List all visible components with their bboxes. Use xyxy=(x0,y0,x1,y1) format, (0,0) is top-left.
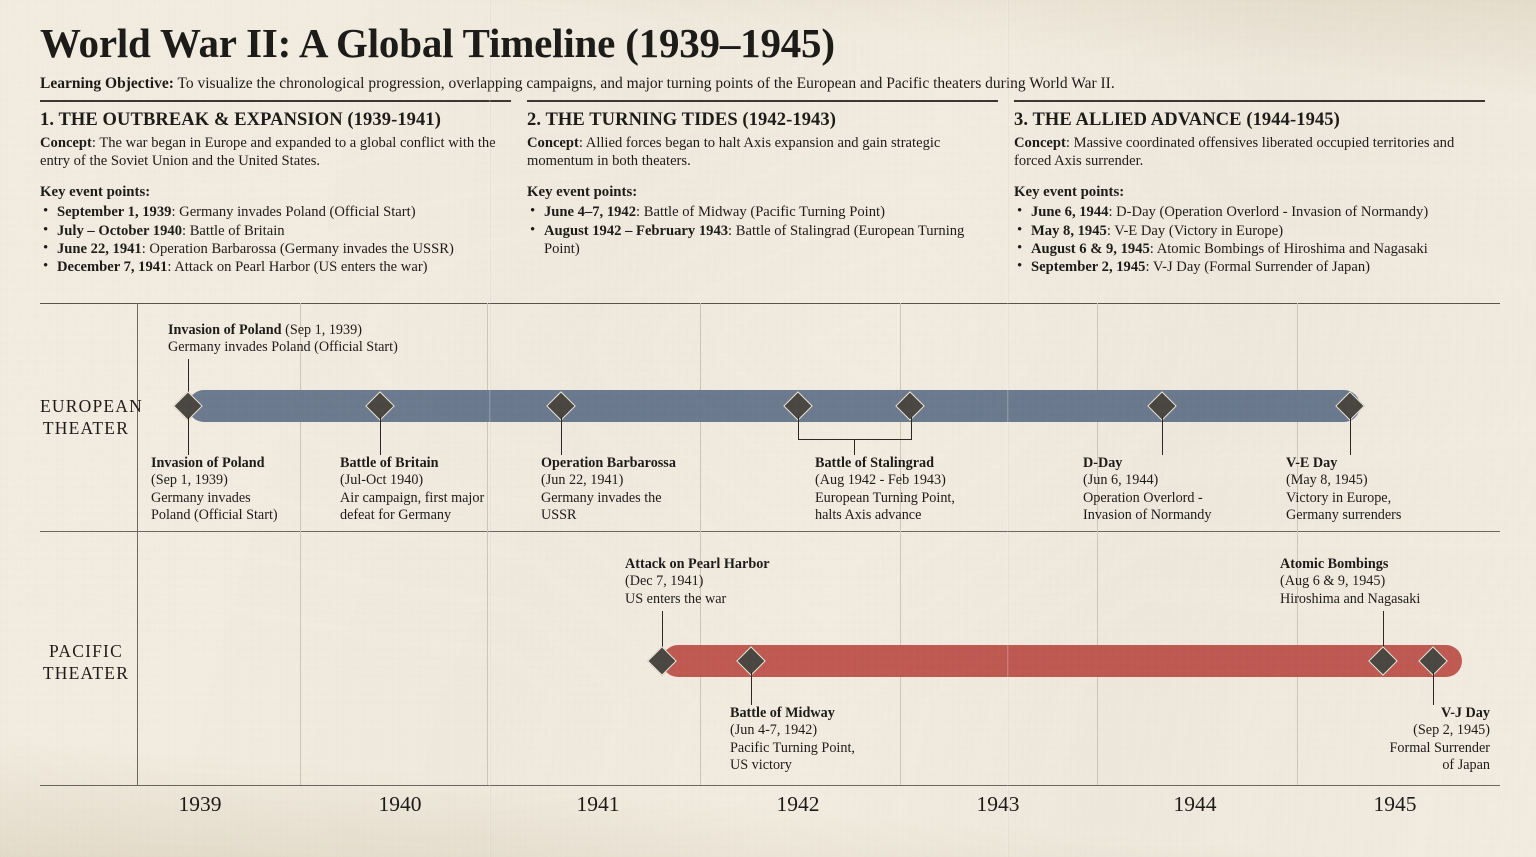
concept-label: Concept xyxy=(1014,135,1066,151)
key-events-list-1: September 1, 1939: Germany invades Polan… xyxy=(40,203,505,276)
section-heading-1: 1. THE OUTBREAK & EXPANSION (1939-1941) xyxy=(40,109,505,131)
leader-line-battle-of-midway xyxy=(751,672,752,705)
year-axis: 1939 1940 1941 1942 1943 1944 1945 xyxy=(40,790,1500,830)
event-detail-2: defeat for Germany xyxy=(340,507,512,524)
event-detail-2: Germany surrenders xyxy=(1286,507,1456,524)
event-name: D-Day xyxy=(1083,455,1263,472)
concept-text: : The war began in Europe and expanded t… xyxy=(40,135,496,169)
year-tick-1942: 1942 xyxy=(777,790,820,818)
bullet-text: : Battle of Britain xyxy=(182,223,285,239)
event-date: (Sep 2, 1945) xyxy=(1290,722,1490,739)
year-tick-1945: 1945 xyxy=(1374,790,1417,818)
event-detail-1: Hiroshima and Nagasaki xyxy=(1280,591,1536,608)
event-name: V-J Day xyxy=(1290,705,1490,722)
year-tick-1939: 1939 xyxy=(179,790,222,818)
event-name: Invasion of Poland xyxy=(168,322,282,338)
list-item: September 2, 1945: V-J Day (Formal Surre… xyxy=(1014,258,1479,276)
event-detail-2: US victory xyxy=(730,757,910,774)
event-date: (Jun 4-7, 1942) xyxy=(730,722,910,739)
bullet-date: August 1942 – February 1943 xyxy=(544,223,728,239)
event-name: Battle of Stalingrad xyxy=(815,455,995,472)
event-date: (Sep 1, 1939) xyxy=(151,472,323,489)
bracket-stem-battle-of-stalingrad xyxy=(854,439,855,455)
event-name: Invasion of Poland xyxy=(151,455,323,472)
list-item: June 6, 1944: D-Day (Operation Overlord … xyxy=(1014,203,1479,221)
event-callout-atomic-bombings: Atomic Bombings (Aug 6 & 9, 1945) Hirosh… xyxy=(1280,556,1536,608)
event-detail-2: Invasion of Normandy xyxy=(1083,507,1263,524)
event-date: (Aug 1942 - Feb 1943) xyxy=(815,472,995,489)
year-tick-1940: 1940 xyxy=(379,790,422,818)
year-tick-1941: 1941 xyxy=(577,790,620,818)
event-date: (Jul-Oct 1940) xyxy=(340,472,512,489)
list-item: June 4–7, 1942: Battle of Midway (Pacifi… xyxy=(527,203,992,221)
gridline-1941 xyxy=(700,303,701,785)
event-label-battle-of-stalingrad: Battle of Stalingrad (Aug 1942 - Feb 194… xyxy=(815,455,995,525)
event-label-operation-barbarossa: Operation Barbarossa (Jun 22, 1941) Germ… xyxy=(541,455,706,525)
gridline-1943 xyxy=(1097,303,1098,785)
row-label-pacific-theater: PACIFIC THEATER xyxy=(40,640,132,684)
bullet-text: : V-J Day (Formal Surrender of Japan) xyxy=(1145,259,1370,275)
bullet-date: June 22, 1941 xyxy=(57,241,142,257)
section-columns: 1. THE OUTBREAK & EXPANSION (1939-1941) … xyxy=(40,100,1500,276)
event-name: Attack on Pearl Harbor xyxy=(625,556,885,573)
leader-line-battle-of-britain xyxy=(380,417,381,455)
concept-text: : Massive coordinated offensives liberat… xyxy=(1014,135,1454,169)
row-label-line1: PACIFIC xyxy=(40,640,132,662)
event-detail-2: of Japan xyxy=(1290,757,1490,774)
bullet-text: : Attack on Pearl Harbor (US enters the … xyxy=(167,259,427,275)
event-label-d-day: D-Day (Jun 6, 1944) Operation Overlord -… xyxy=(1083,455,1263,525)
bullet-date: September 1, 1939 xyxy=(57,204,171,220)
event-detail-2: USSR xyxy=(541,507,706,524)
chart-middle-divider xyxy=(40,531,1500,532)
key-events-label-1: Key event points: xyxy=(40,183,505,201)
key-events-label-2: Key event points: xyxy=(527,183,992,201)
key-events-list-3: June 6, 1944: D-Day (Operation Overlord … xyxy=(1014,203,1479,276)
chart-top-rule xyxy=(40,303,1500,304)
list-item: August 1942 – February 1943: Battle of S… xyxy=(527,222,992,258)
leader-line-operation-barbarossa xyxy=(561,417,562,455)
page-title: World War II: A Global Timeline (1939–19… xyxy=(40,18,1496,68)
chart-bottom-rule xyxy=(40,785,1500,786)
event-date: (Jun 22, 1941) xyxy=(541,472,706,489)
list-item: December 7, 1941: Attack on Pearl Harbor… xyxy=(40,258,505,276)
event-name: Battle of Midway xyxy=(730,705,910,722)
bullet-text: : Atomic Bombings of Hiroshima and Nagas… xyxy=(1150,241,1428,257)
event-name: V-E Day xyxy=(1286,455,1456,472)
gridline-1940 xyxy=(487,303,488,785)
event-label-battle-of-midway: Battle of Midway (Jun 4-7, 1942) Pacific… xyxy=(730,705,910,775)
event-callout-invasion-of-poland-above: Invasion of Poland (Sep 1, 1939) Germany… xyxy=(168,322,498,357)
row-label-european-theater: EUROPEAN THEATER xyxy=(40,395,132,439)
bullet-text: : V-E Day (Victory in Europe) xyxy=(1107,223,1283,239)
event-date: (May 8, 1945) xyxy=(1286,472,1456,489)
bullet-date: June 6, 1944 xyxy=(1031,204,1108,220)
event-detail-1: US enters the war xyxy=(625,591,885,608)
bullet-text: : Battle of Midway (Pacific Turning Poin… xyxy=(636,204,885,220)
event-callout-attack-on-pearl-harbor: Attack on Pearl Harbor (Dec 7, 1941) US … xyxy=(625,556,885,608)
leader-line-v-e-day xyxy=(1350,417,1351,455)
event-detail-1: European Turning Point, xyxy=(815,490,995,507)
bullet-date: September 2, 1945 xyxy=(1031,259,1145,275)
row-label-line2: THEATER xyxy=(40,662,132,684)
learning-objective-label: Learning Objective: xyxy=(40,75,174,92)
event-detail-1: Formal Surrender xyxy=(1290,740,1490,757)
concept-label: Concept xyxy=(527,135,579,151)
page-header: World War II: A Global Timeline (1939–19… xyxy=(40,18,1496,94)
event-detail-2: halts Axis advance xyxy=(815,507,995,524)
list-item: August 6 & 9, 1945: Atomic Bombings of H… xyxy=(1014,240,1479,258)
pacific-theater-bar xyxy=(662,645,1462,677)
list-item: June 22, 1941: Operation Barbarossa (Ger… xyxy=(40,240,505,258)
bullet-date: May 8, 1945 xyxy=(1031,223,1107,239)
year-tick-1943: 1943 xyxy=(977,790,1020,818)
section-column-2: 2. THE TURNING TIDES (1942-1943) Concept… xyxy=(527,100,1014,276)
event-date: (Sep 1, 1939) xyxy=(282,322,362,338)
leader-line-d-day xyxy=(1162,417,1163,455)
event-date: (Dec 7, 1941) xyxy=(625,573,885,590)
column-rule xyxy=(40,100,511,102)
gridline-1939 xyxy=(300,303,301,785)
list-item: May 8, 1945: V-E Day (Victory in Europe) xyxy=(1014,222,1479,240)
key-events-label-3: Key event points: xyxy=(1014,183,1479,201)
row-label-line1: EUROPEAN xyxy=(40,395,132,417)
event-detail: Germany invades Poland (Official Start) xyxy=(168,339,498,356)
event-detail-1: Pacific Turning Point, xyxy=(730,740,910,757)
concept-text: : Allied forces began to halt Axis expan… xyxy=(527,135,940,169)
year-tick-1944: 1944 xyxy=(1174,790,1217,818)
column-rule xyxy=(1014,100,1485,102)
event-date: (Aug 6 & 9, 1945) xyxy=(1280,573,1536,590)
event-detail-1: Germany invades xyxy=(151,490,323,507)
concept-label: Concept xyxy=(40,135,92,151)
event-name: Atomic Bombings xyxy=(1280,556,1536,573)
section-concept-3: Concept: Massive coordinated offensives … xyxy=(1014,134,1479,170)
bullet-date: December 7, 1941 xyxy=(57,259,167,275)
section-column-1: 1. THE OUTBREAK & EXPANSION (1939-1941) … xyxy=(40,100,527,276)
event-detail-1: Germany invades the xyxy=(541,490,706,507)
key-events-list-2: June 4–7, 1942: Battle of Midway (Pacifi… xyxy=(527,203,992,258)
bullet-text: : Germany invades Poland (Official Start… xyxy=(171,204,415,220)
column-rule xyxy=(527,100,998,102)
bullet-text: : Operation Barbarossa (Germany invades … xyxy=(142,241,454,257)
section-column-3: 3. THE ALLIED ADVANCE (1944-1945) Concep… xyxy=(1014,100,1501,276)
event-detail-1: Victory in Europe, xyxy=(1286,490,1456,507)
leader-line-v-j-day xyxy=(1433,672,1434,705)
learning-objective-text: To visualize the chronological progressi… xyxy=(174,75,1115,92)
list-item: July – October 1940: Battle of Britain xyxy=(40,222,505,240)
event-label-v-e-day: V-E Day (May 8, 1945) Victory in Europe,… xyxy=(1286,455,1456,525)
section-heading-3: 3. THE ALLIED ADVANCE (1944-1945) xyxy=(1014,109,1479,131)
list-item: September 1, 1939: Germany invades Polan… xyxy=(40,203,505,221)
bullet-date: August 6 & 9, 1945 xyxy=(1031,241,1150,257)
event-label-invasion-of-poland: Invasion of Poland (Sep 1, 1939) Germany… xyxy=(151,455,323,525)
bracket-battle-of-stalingrad xyxy=(798,417,912,440)
learning-objective: Learning Objective: To visualize the chr… xyxy=(40,74,1496,94)
leader-line-invasion-of-poland xyxy=(188,417,189,455)
bullet-text: : D-Day (Operation Overlord - Invasion o… xyxy=(1108,204,1428,220)
bullet-date: July – October 1940 xyxy=(57,223,182,239)
section-concept-1: Concept: The war began in Europe and exp… xyxy=(40,134,505,170)
european-theater-bar xyxy=(188,390,1360,422)
bullet-date: June 4–7, 1942 xyxy=(544,204,636,220)
row-label-line2: THEATER xyxy=(40,417,132,439)
chart-vertical-axis xyxy=(137,303,138,785)
event-name: Battle of Britain xyxy=(340,455,512,472)
event-name: Operation Barbarossa xyxy=(541,455,706,472)
timeline-chart: EUROPEAN THEATER Invasion of Poland (Sep… xyxy=(40,303,1500,787)
event-detail-1: Operation Overlord - xyxy=(1083,490,1263,507)
event-date: (Jun 6, 1944) xyxy=(1083,472,1263,489)
event-detail-1: Air campaign, first major xyxy=(340,490,512,507)
event-label-v-j-day: V-J Day (Sep 2, 1945) Formal Surrender o… xyxy=(1290,705,1490,775)
event-label-battle-of-britain: Battle of Britain (Jul-Oct 1940) Air cam… xyxy=(340,455,512,525)
section-concept-2: Concept: Allied forces began to halt Axi… xyxy=(527,134,992,170)
event-detail-2: Poland (Official Start) xyxy=(151,507,323,524)
section-heading-2: 2. THE TURNING TIDES (1942-1943) xyxy=(527,109,992,131)
